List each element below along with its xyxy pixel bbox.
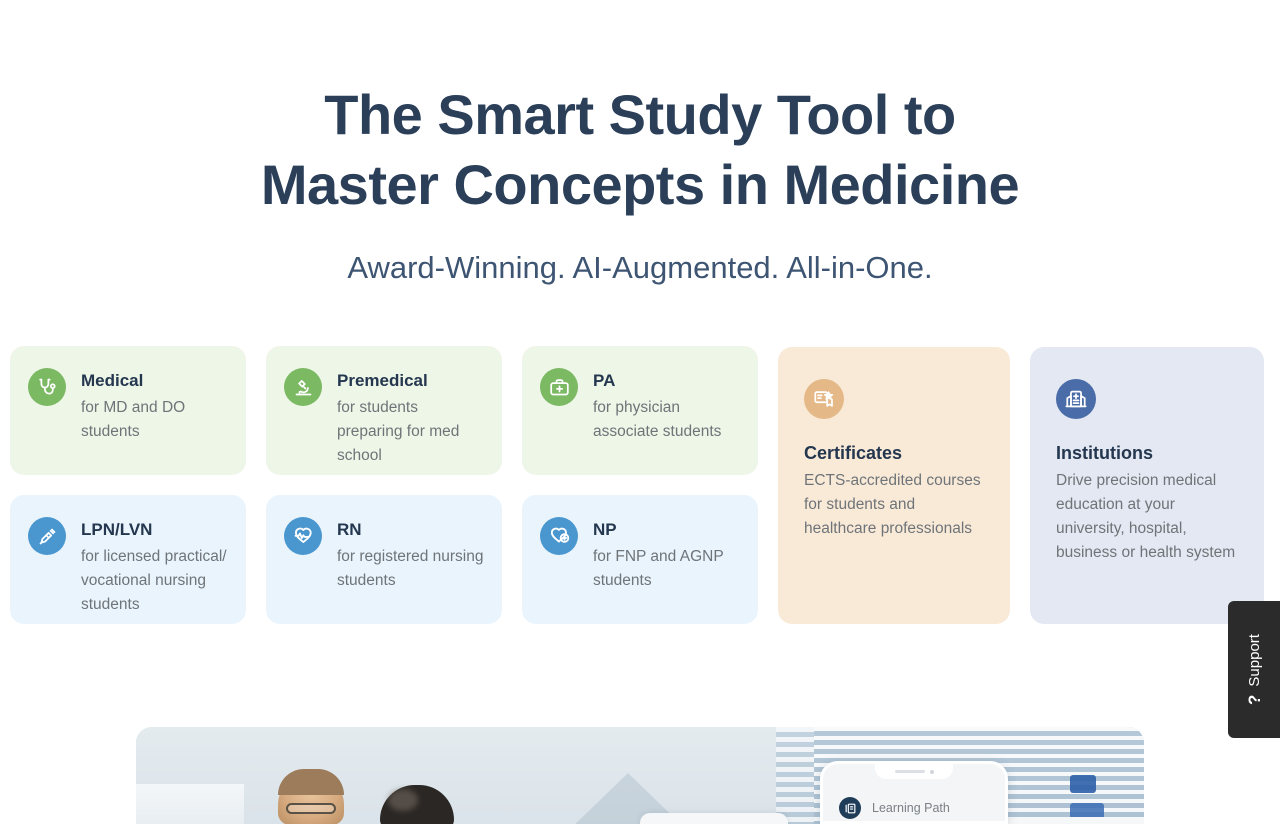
audience-card-title: Premedical [337, 370, 486, 392]
audience-card-inner: Medicalfor MD and DO students [28, 368, 230, 444]
audience-card-np[interactable]: NPfor FNP and AGNP students [522, 495, 758, 624]
audience-card-description: ECTS-accredited courses for students and… [804, 469, 986, 541]
banner-photo: Learning Path [136, 727, 1144, 824]
audience-card-inner: Premedicalfor students preparing for med… [284, 368, 486, 468]
phone-speaker-icon [895, 770, 925, 773]
audience-card-pa[interactable]: PAfor physician associate students [522, 346, 758, 475]
learning-path-label: Learning Path [872, 801, 950, 815]
support-tab-inner: ? Support [1246, 634, 1263, 705]
stethoscope-icon [28, 368, 66, 406]
mini-ui-card-left [640, 813, 788, 824]
audience-card-text: Medicalfor MD and DO students [81, 368, 230, 444]
glasses-icon [286, 803, 336, 814]
hospital-icon [1056, 379, 1096, 419]
audience-card-rn[interactable]: RNfor registered nursing students [266, 495, 502, 624]
certificate-icon [804, 379, 844, 419]
page-title-line-2: Master Concepts in Medicine [0, 150, 1280, 220]
page-title-line-1: The Smart Study Tool to [0, 80, 1280, 150]
audience-card-inner: PAfor physician associate students [540, 368, 742, 444]
audience-card-description: for FNP and AGNP students [593, 545, 742, 593]
audience-card-text: LPN/LVNfor licensed practical/ vocationa… [81, 517, 230, 617]
question-mark-icon: ? [1246, 695, 1263, 705]
microscope-icon [284, 368, 322, 406]
audience-card-text: NPfor FNP and AGNP students [593, 517, 742, 593]
audience-card-title: Certificates [804, 441, 986, 465]
audience-card-title: LPN/LVN [81, 519, 230, 541]
audience-card-inner: LPN/LVNfor licensed practical/ vocationa… [28, 517, 230, 617]
learning-path-icon [839, 797, 861, 819]
phone-camera-icon [930, 770, 934, 774]
heart-plus-icon [540, 517, 578, 555]
audience-card-inner: NPfor FNP and AGNP students [540, 517, 742, 593]
audience-card-title: RN [337, 519, 486, 541]
audience-card-title: NP [593, 519, 742, 541]
audience-card-title: PA [593, 370, 742, 392]
syringe-icon [28, 517, 66, 555]
audience-card-title: Institutions [1056, 441, 1240, 465]
phone-mockup: Learning Path [820, 761, 1008, 824]
audience-card-institutions[interactable]: InstitutionsDrive precision medical educ… [1030, 347, 1264, 624]
mini-ui-card-right [998, 817, 1144, 824]
audience-card-lpn-lvn[interactable]: LPN/LVNfor licensed practical/ vocationa… [10, 495, 246, 624]
audience-card-title: Medical [81, 370, 230, 392]
support-tab[interactable]: ? Support [1228, 601, 1280, 738]
audience-card-description: for physician associate students [593, 396, 742, 444]
learning-path-row[interactable]: Learning Path [839, 797, 950, 819]
audience-card-description: for licensed practical/ vocational nursi… [81, 545, 230, 617]
audience-cards-grid: Medicalfor MD and DO studentsPremedicalf… [0, 346, 1280, 646]
page-subtitle: Award-Winning. AI-Augmented. All-in-One. [0, 248, 1280, 288]
cabinet [136, 783, 244, 824]
product-screenshot-banner: Learning Path [136, 727, 1144, 824]
medical-bag-icon [540, 368, 578, 406]
support-tab-label: Support [1246, 634, 1263, 687]
phone-notch [875, 764, 953, 779]
audience-card-text: RNfor registered nursing students [337, 517, 486, 593]
audience-card-medical[interactable]: Medicalfor MD and DO students [10, 346, 246, 475]
audience-card-text: PAfor physician associate students [593, 368, 742, 444]
shelf-item-blue-1 [1070, 775, 1096, 793]
audience-card-text: Premedicalfor students preparing for med… [337, 368, 486, 468]
audience-card-certificates[interactable]: CertificatesECTS-accredited courses for … [778, 347, 1010, 624]
audience-card-description: for registered nursing students [337, 545, 486, 593]
audience-card-description: for MD and DO students [81, 396, 230, 444]
audience-card-premedical[interactable]: Premedicalfor students preparing for med… [266, 346, 502, 475]
heart-pulse-icon [284, 517, 322, 555]
hero-section: The Smart Study Tool to Master Concepts … [0, 0, 1280, 288]
page-title: The Smart Study Tool to Master Concepts … [0, 80, 1280, 220]
person-dark-hair-highlight [388, 789, 418, 811]
audience-card-inner: RNfor registered nursing students [284, 517, 486, 593]
audience-card-description: for students preparing for med school [337, 396, 486, 468]
audience-card-description: Drive precision medical education at you… [1056, 469, 1240, 565]
